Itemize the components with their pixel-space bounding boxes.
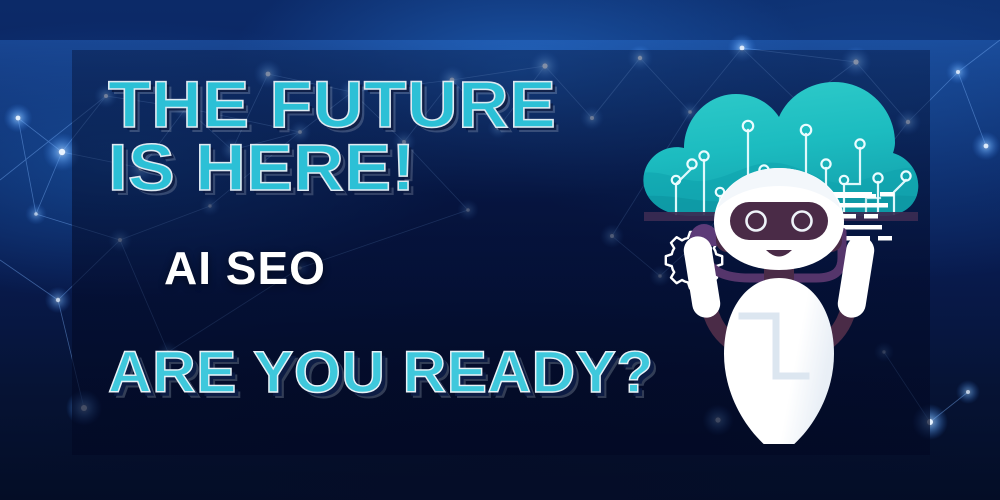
ai-seo-banner: THE FUTURE IS HERE! AI SEO ARE YOU READY…	[0, 0, 1000, 500]
ai-robot-cloud-illustration	[630, 64, 930, 444]
headline-group: THE FUTURE IS HERE! AI SEO ARE YOU READY…	[108, 74, 708, 406]
subheadline-ai-seo: AI SEO	[164, 241, 708, 295]
